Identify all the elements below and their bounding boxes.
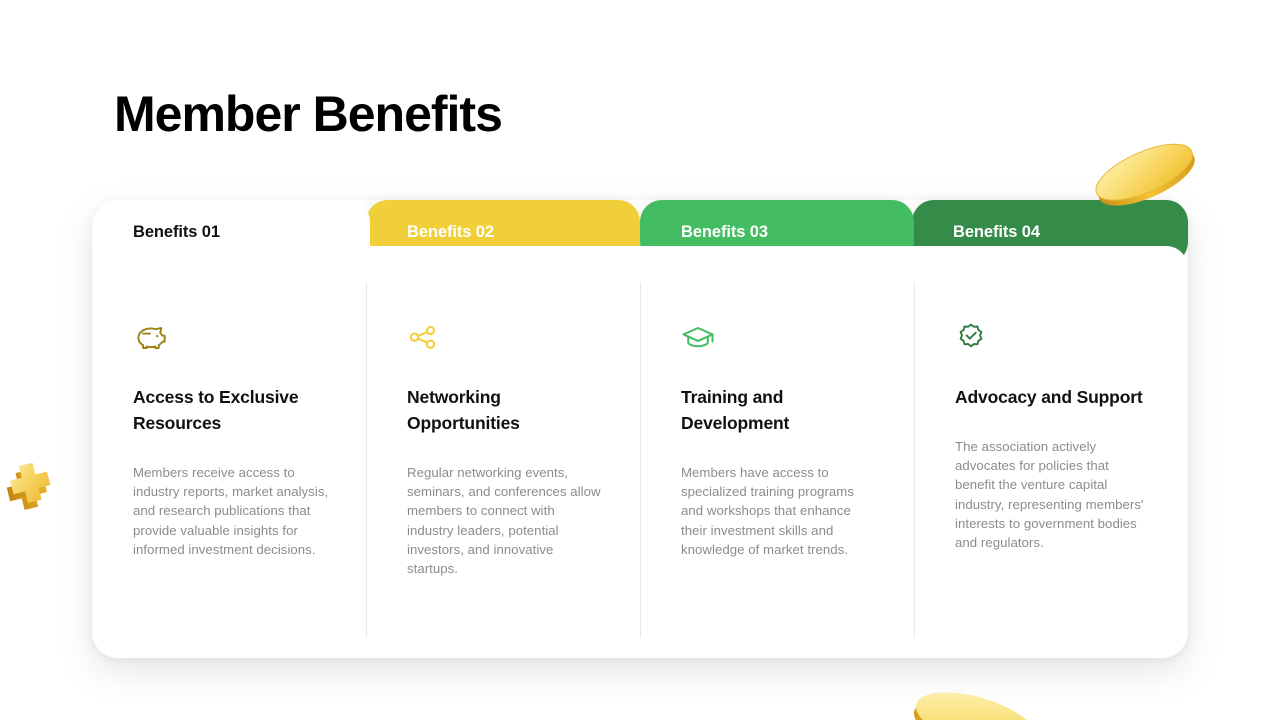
benefit-column-1: Access to Exclusive Resources Members re… [92,276,366,658]
benefit-title-1: Access to Exclusive Resources [133,385,330,437]
tab-benefits-01[interactable]: Benefits 01 [92,200,366,264]
gold-plus-icon [2,448,58,524]
benefit-title-2: Networking Opportunities [407,385,604,437]
benefit-body-2: Regular networking events, seminars, and… [407,463,604,579]
benefit-column-3: Training and Development Members have ac… [640,276,914,658]
gold-coin-bottom-right-icon [900,672,1050,720]
benefit-body-1: Members receive access to industry repor… [133,463,330,559]
page-title: Member Benefits [114,84,502,144]
benefit-title-3: Training and Development [681,385,878,437]
benefit-title-4: Advocacy and Support [955,385,1152,411]
piggy-bank-icon [133,322,330,352]
benefit-body-4: The association actively advocates for p… [955,437,1152,553]
graduation-cap-icon [681,322,878,352]
benefit-column-2: Networking Opportunities Regular network… [366,276,640,658]
benefit-body-3: Members have access to specialized train… [681,463,878,559]
share-network-icon [407,322,604,352]
slide-canvas: Member Benefits Benefits 04 Benefits 03 … [0,0,1280,720]
benefits-columns: Access to Exclusive Resources Members re… [92,276,1188,658]
active-tab-bar: Benefits 01 [92,200,1188,264]
tab-benefits-01-label: Benefits 01 [133,223,220,242]
benefit-column-4: Advocacy and Support The association act… [914,276,1188,658]
verified-badge-check-icon [955,322,1152,352]
